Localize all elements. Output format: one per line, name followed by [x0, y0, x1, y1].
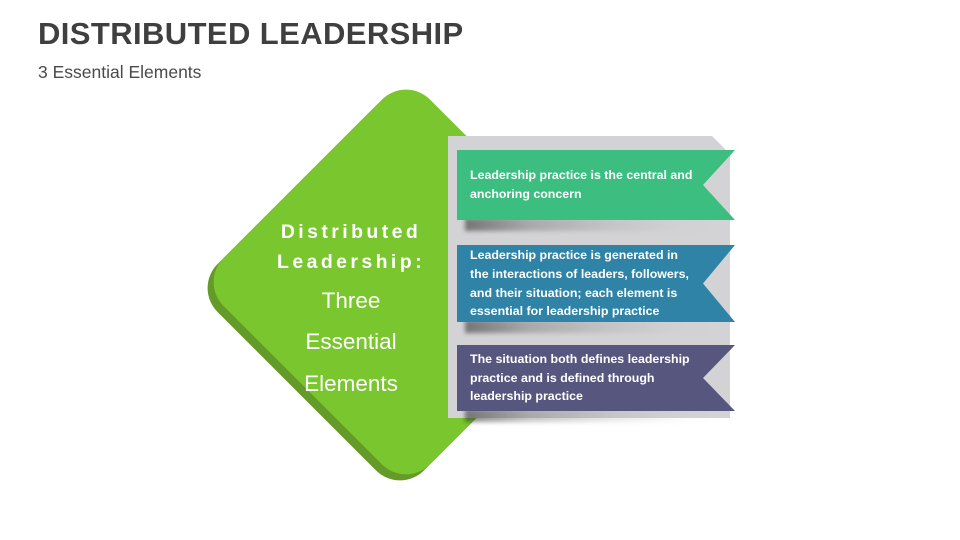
diamond-text-block: Distributed Leadership: Three Essential … — [232, 218, 470, 401]
element-banner-3[interactable]: The situation both defines leadership pr… — [457, 345, 735, 411]
diamond-subtitle-line-3: Elements — [232, 367, 470, 401]
banner-2-text: Leadership practice is generated in the … — [457, 246, 735, 321]
element-banner-1[interactable]: Leadership practice is the central and a… — [457, 150, 735, 220]
page-subtitle: 3 Essential Elements — [38, 62, 658, 83]
banner-2-body[interactable]: Leadership practice is generated in the … — [457, 245, 735, 322]
page-title: DISTRIBUTED LEADERSHIP — [38, 16, 658, 52]
element-banner-2[interactable]: Leadership practice is generated in the … — [457, 245, 735, 322]
diamond-title-line-1: Distributed — [232, 218, 470, 248]
banner-1-text: Leadership practice is the central and a… — [457, 166, 735, 204]
diamond-subtitle-line-2: Essential — [232, 325, 470, 359]
banner-1-body[interactable]: Leadership practice is the central and a… — [457, 150, 735, 220]
banner-3-text: The situation both defines leadership pr… — [457, 350, 735, 407]
slide-header: DISTRIBUTED LEADERSHIP 3 Essential Eleme… — [38, 16, 658, 83]
banner-3-body[interactable]: The situation both defines leadership pr… — [457, 345, 735, 411]
slide-canvas: DISTRIBUTED LEADERSHIP 3 Essential Eleme… — [0, 0, 960, 540]
diamond-subtitle-line-1: Three — [232, 284, 470, 318]
diamond-title-line-2: Leadership: — [232, 248, 470, 278]
